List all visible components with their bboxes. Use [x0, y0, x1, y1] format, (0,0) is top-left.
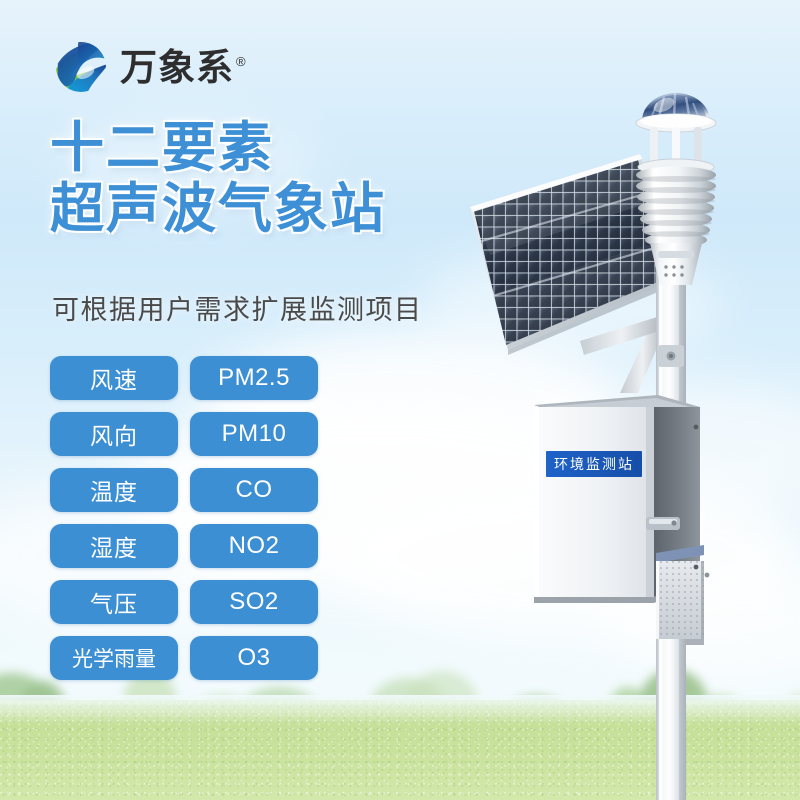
cabinet-front: [534, 407, 654, 597]
headline-line-1: 十二要素: [50, 118, 386, 179]
registered-mark: ®: [236, 54, 247, 69]
cabinet-bolt: [705, 573, 710, 578]
cabinet-label-text: 环境监测站: [554, 457, 634, 473]
feature-pill[interactable]: NO2: [190, 524, 318, 568]
brand-logo: 万象系®: [52, 38, 247, 96]
transducer-arm: [694, 127, 702, 165]
brand-name-text: 万象系: [120, 47, 234, 88]
feature-pill[interactable]: PM2.5: [190, 356, 318, 400]
radiation-shield: [636, 167, 716, 248]
feature-pill[interactable]: 风向: [50, 412, 178, 456]
swirl-globe-logo-icon: [52, 38, 110, 96]
cabinet-label: 环境监测站: [546, 451, 642, 477]
feature-pill[interactable]: 气压: [50, 580, 178, 624]
headline-line-2: 超声波气象站: [50, 179, 386, 240]
cabinet-latch: [646, 517, 680, 530]
feature-pill[interactable]: CO: [190, 468, 318, 512]
sensor-collar: [658, 251, 694, 258]
weather-station-product-photo: 环境监测站: [460, 55, 790, 800]
feature-pill[interactable]: 温度: [50, 468, 178, 512]
transducer-arm: [650, 127, 658, 165]
feature-pill[interactable]: SO2: [190, 580, 318, 624]
control-cabinet: 环境监测站: [534, 395, 709, 645]
feature-pill[interactable]: 湿度: [50, 524, 178, 568]
brand-name: 万象系®: [120, 49, 247, 86]
subtitle: 可根据用户需求扩展监测项目: [52, 288, 423, 327]
ultrasonic-wind-sensor: [636, 93, 716, 175]
feature-pill[interactable]: 光学雨量: [50, 636, 178, 680]
feature-pill[interactable]: 风速: [50, 356, 178, 400]
cabinet-bolt: [694, 425, 699, 430]
feature-pill[interactable]: PM10: [190, 412, 318, 456]
feature-pill-grid: 风速PM2.5风向PM10温度CO湿度NO2气压SO2光学雨量O3: [50, 356, 318, 680]
cabinet-bolt: [694, 565, 699, 570]
headline: 十二要素 超声波气象站: [50, 118, 386, 240]
feature-pill[interactable]: O3: [190, 636, 318, 680]
